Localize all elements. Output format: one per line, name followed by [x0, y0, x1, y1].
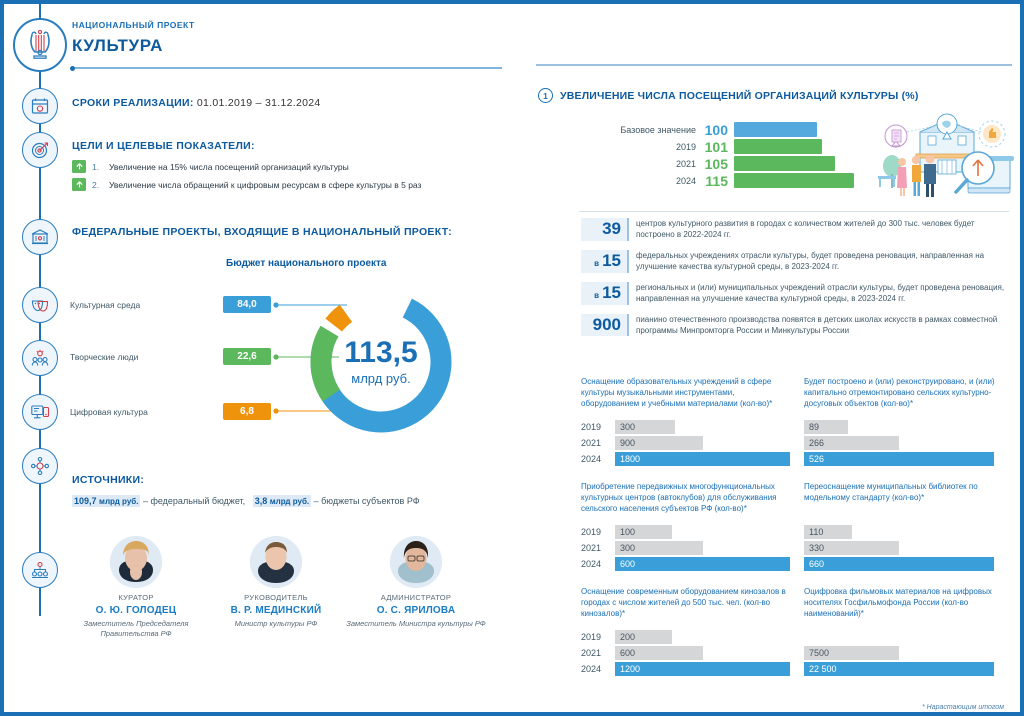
- kpi-title: Переоснащение муниципальных библиотек по…: [804, 481, 1013, 525]
- budget-total-unit: млрд руб.: [351, 371, 410, 386]
- kpi-bar: 1200: [615, 662, 790, 676]
- kpi-year: 2021: [581, 438, 615, 448]
- goal-text: Увеличение на 15% числа посещений органи…: [109, 162, 349, 172]
- kpi-bar: 660: [804, 557, 994, 571]
- member-post: Заместитель Министра культуры РФ: [346, 619, 486, 629]
- donut-center-label: 113,5 млрд руб.: [306, 287, 456, 437]
- bar-row: 2019 101: [584, 139, 854, 154]
- kpi-bar: 300: [615, 541, 703, 555]
- section-title: УВЕЛИЧЕНИЕ ЧИСЛА ПОСЕЩЕНИЙ ОРГАНИЗАЦИЙ К…: [560, 90, 919, 102]
- project-label-creative-people: Творческие люди: [70, 352, 138, 362]
- visits-bar-chart: Базовое значение 100 2019 101 2021 105 2…: [584, 122, 854, 190]
- fact-item: в 15 региональных и (или) муниципальных …: [581, 282, 1011, 305]
- sources-title: ИСТОЧНИКИ:: [72, 474, 144, 486]
- kpi-row: 2021 300: [581, 541, 790, 555]
- avatar: [390, 536, 442, 588]
- bar-row: 2024 115: [584, 173, 854, 188]
- right-column-divider: [536, 64, 1012, 66]
- fact-number-box: 39: [581, 218, 629, 241]
- kpi-block: Оснащение современным оборудованием кино…: [581, 586, 1013, 678]
- bar-category: 2024: [584, 176, 696, 186]
- kpi-row: 2019 200: [581, 630, 790, 644]
- footnote: * Нарастающим итогом: [922, 704, 1004, 711]
- team-member: РУКОВОДИТЕЛЬ В. Р. МЕДИНСКИЙ Министр кул…: [206, 536, 346, 639]
- goal-number: 1.: [92, 162, 103, 172]
- kpi-year: 2019: [581, 527, 615, 537]
- kpi-title: Оснащение современным оборудованием кино…: [581, 586, 790, 630]
- kpi-chart-film-digitization: Оцифровка фильмовых материалов на цифров…: [804, 586, 1013, 678]
- fact-prefix: в: [594, 291, 599, 300]
- infographic-page: НАЦИОНАЛЬНЫЙ ПРОЕКТ КУЛЬТУРА СРОКИ РЕАЛИ…: [0, 0, 1024, 716]
- budget-title: Бюджет национального проекта: [226, 258, 386, 269]
- team-list: КУРАТОР О. Ю. ГОЛОДЕЦ Заместитель Предсе…: [66, 536, 486, 639]
- kpi-bar: 526: [804, 452, 994, 466]
- member-role: КУРАТОР: [66, 593, 206, 602]
- kpi-bar: 600: [615, 557, 790, 571]
- kpi-row: 7500: [804, 646, 1013, 660]
- arrow-up-icon: [72, 178, 86, 191]
- goal-number: 2.: [92, 180, 103, 190]
- kpi-bar: 600: [615, 646, 703, 660]
- implementation-dates: СРОКИ РЕАЛИЗАЦИИ: 01.01.2019 – 31.12.202…: [72, 97, 321, 109]
- left-column: НАЦИОНАЛЬНЫЙ ПРОЕКТ КУЛЬТУРА СРОКИ РЕАЛИ…: [4, 4, 520, 712]
- member-post: Заместитель Председателя Правительства Р…: [66, 619, 206, 639]
- kpi-row: 660: [804, 557, 1013, 571]
- lyre-icon: [13, 18, 67, 72]
- arrow-up-icon: [72, 160, 86, 173]
- kpi-bar: 100: [615, 525, 672, 539]
- fact-prefix: в: [594, 259, 599, 268]
- kpi-year: 2019: [581, 632, 615, 642]
- sources-line: 109,7 млрд руб. – федеральный бюджет, 3,…: [72, 496, 420, 506]
- kpi-bar: 1800: [615, 452, 790, 466]
- fact-number-box: 900: [581, 314, 629, 337]
- member-name: О. Ю. ГОЛОДЕЦ: [66, 605, 206, 616]
- kpi-bar: 200: [615, 630, 672, 644]
- header-divider: [72, 67, 502, 69]
- kpi-chart-rural-culture-objects: Будет построено и (или) реконструировано…: [804, 376, 1013, 468]
- goal-item-1: 1. Увеличение на 15% числа посещений орг…: [72, 160, 349, 173]
- source-regional-desc: – бюджеты субъектов РФ: [314, 496, 420, 506]
- federal-projects-title: ФЕДЕРАЛЬНЫЕ ПРОЕКТЫ, ВХОДЯЩИЕ В НАЦИОНАЛ…: [72, 226, 452, 238]
- project-value-cultural-environment: 84,0: [223, 296, 271, 313]
- goals-title: ЦЕЛИ И ЦЕЛЕВЫЕ ПОКАЗАТЕЛИ:: [72, 140, 255, 152]
- budget-donut-chart: 113,5 млрд руб.: [306, 287, 456, 437]
- project-value-creative-people: 22,6: [223, 348, 271, 365]
- page-title: КУЛЬТУРА: [72, 36, 163, 56]
- bar-category: Базовое значение: [584, 125, 696, 135]
- kpi-row: 2019 300: [581, 420, 790, 434]
- facts-list: 39 центров культурного развития в города…: [581, 218, 1011, 345]
- kpi-row: 89: [804, 420, 1013, 434]
- fact-item: в 15 федеральных учреждениях отрасли кул…: [581, 250, 1011, 273]
- bar-row: Базовое значение 100: [584, 122, 854, 137]
- kpi-bar: 900: [615, 436, 703, 450]
- fact-text: центров культурного развития в городах с…: [629, 218, 1011, 241]
- fact-number-box: в 15: [581, 250, 629, 273]
- avatar: [110, 536, 162, 588]
- member-post: Министр культуры РФ: [206, 619, 346, 629]
- culture-visits-illustration: [868, 110, 1016, 202]
- goal-text: Увеличение числа обращений к цифровым ре…: [109, 180, 421, 190]
- digital-screen-icon: [22, 394, 58, 430]
- project-label-digital-culture: Цифровая культура: [70, 407, 148, 417]
- kpi-year: 2021: [581, 648, 615, 658]
- kpi-row: 526: [804, 452, 1013, 466]
- institution-icon: [22, 219, 58, 255]
- kpi-title: Оцифровка фильмовых материалов на цифров…: [804, 586, 1013, 630]
- kpi-row: 2024 1200: [581, 662, 790, 676]
- fact-item: 39 центров культурного развития в города…: [581, 218, 1011, 241]
- team-member: АДМИНИСТРАТОР О. С. ЯРИЛОВА Заместитель …: [346, 536, 486, 639]
- kpi-year: 2024: [581, 454, 615, 464]
- kpi-year: 2019: [581, 422, 615, 432]
- bar-value: 101: [696, 139, 734, 155]
- member-role: РУКОВОДИТЕЛЬ: [206, 593, 346, 602]
- dates-value: 01.01.2019 – 31.12.2024: [197, 97, 321, 109]
- fact-number: 15: [602, 284, 621, 302]
- source-regional-value: 3,8 млрд руб.: [253, 495, 311, 507]
- kpi-bar: 7500: [804, 646, 899, 660]
- kpi-bar: 22 500: [804, 662, 994, 676]
- kpi-row: [804, 630, 1013, 644]
- bar-value: 115: [696, 173, 734, 189]
- bar-value: 105: [696, 156, 734, 172]
- project-value-digital-culture: 6,8: [223, 403, 271, 420]
- bar-fill: [734, 173, 854, 188]
- project-label-cultural-environment: Культурная среда: [70, 300, 140, 310]
- kpi-row: 2024 600: [581, 557, 790, 571]
- kpi-row: 2021 900: [581, 436, 790, 450]
- calendar-icon: [22, 88, 58, 124]
- fact-number: 15: [602, 252, 621, 270]
- team-member: КУРАТОР О. Ю. ГОЛОДЕЦ Заместитель Предсе…: [66, 536, 206, 639]
- fact-number: 39: [602, 220, 621, 238]
- kpi-bar: 330: [804, 541, 899, 555]
- goal-item-2: 2. Увеличение числа обращений к цифровым…: [72, 178, 421, 191]
- bar-fill: [734, 156, 835, 171]
- kpi-row: 2024 1800: [581, 452, 790, 466]
- kpi-title: Оснащение образовательных учреждений в с…: [581, 376, 790, 420]
- member-name: О. С. ЯРИЛОВА: [346, 605, 486, 616]
- member-role: АДМИНИСТРАТОР: [346, 593, 486, 602]
- facts-divider: [579, 211, 1009, 212]
- budget-total-value: 113,5: [344, 338, 417, 368]
- fact-item: 900 пианино отечественного производства …: [581, 314, 1011, 337]
- network-icon: [22, 448, 58, 484]
- fact-text: федеральных учреждениях отрасли культуры…: [629, 250, 1011, 273]
- fact-number: 900: [593, 316, 621, 334]
- kpi-block: Оснащение образовательных учреждений в с…: [581, 376, 1013, 468]
- kpi-year: 2024: [581, 559, 615, 569]
- kpi-bar: 110: [804, 525, 852, 539]
- kpi-bar: 89: [804, 420, 848, 434]
- people-group: [897, 155, 936, 198]
- kpi-chart-cinemas: Оснащение современным оборудованием кино…: [581, 586, 790, 678]
- source-federal-desc: – федеральный бюджет,: [143, 496, 245, 506]
- fact-text: пианино отечественного производства появ…: [629, 314, 1011, 337]
- section-heading: 1 УВЕЛИЧЕНИЕ ЧИСЛА ПОСЕЩЕНИЙ ОРГАНИЗАЦИЙ…: [538, 88, 919, 103]
- bar-category: 2021: [584, 159, 696, 169]
- target-icon: [22, 132, 58, 168]
- fact-text: региональных и (или) муниципальных учреж…: [629, 282, 1011, 305]
- kpi-charts-grid: Оснащение образовательных учреждений в с…: [581, 376, 1013, 691]
- bar-fill: [734, 122, 817, 137]
- kpi-chart-libraries: Переоснащение муниципальных библиотек по…: [804, 481, 1013, 573]
- kpi-year: 2021: [581, 543, 615, 553]
- kpi-row: 330: [804, 541, 1013, 555]
- bar-category: 2019: [584, 142, 696, 152]
- bar-value: 100: [696, 122, 734, 138]
- kpi-title: Будет построено и (или) реконструировано…: [804, 376, 1013, 420]
- fact-number-box: в 15: [581, 282, 629, 305]
- kpi-row: 266: [804, 436, 1013, 450]
- kpi-row: 2021 600: [581, 646, 790, 660]
- kpi-bar: [804, 630, 852, 644]
- bar-fill: [734, 139, 822, 154]
- eyebrow-label: НАЦИОНАЛЬНЫЙ ПРОЕКТ: [72, 20, 195, 30]
- source-federal-value: 109,7 млрд руб.: [72, 495, 140, 507]
- member-name: В. Р. МЕДИНСКИЙ: [206, 605, 346, 616]
- dates-label: СРОКИ РЕАЛИЗАЦИИ:: [72, 97, 194, 109]
- kpi-chart-music-instruments: Оснащение образовательных учреждений в с…: [581, 376, 790, 468]
- kpi-row: 110: [804, 525, 1013, 539]
- kpi-bar: 266: [804, 436, 899, 450]
- kpi-row: 22 500: [804, 662, 1013, 676]
- people-idea-icon: [22, 340, 58, 376]
- avatar: [250, 536, 302, 588]
- kpi-year: 2024: [581, 664, 615, 674]
- section-number-badge: 1: [538, 88, 553, 103]
- bar-row: 2021 105: [584, 156, 854, 171]
- kpi-title: Приобретение передвижных многофункционал…: [581, 481, 790, 525]
- kpi-block: Приобретение передвижных многофункционал…: [581, 481, 1013, 573]
- kpi-bar: 300: [615, 420, 675, 434]
- hierarchy-icon: [22, 552, 58, 588]
- theatre-masks-icon: [22, 287, 58, 323]
- kpi-chart-mobile-culture-centers: Приобретение передвижных многофункционал…: [581, 481, 790, 573]
- kpi-row: 2019 100: [581, 525, 790, 539]
